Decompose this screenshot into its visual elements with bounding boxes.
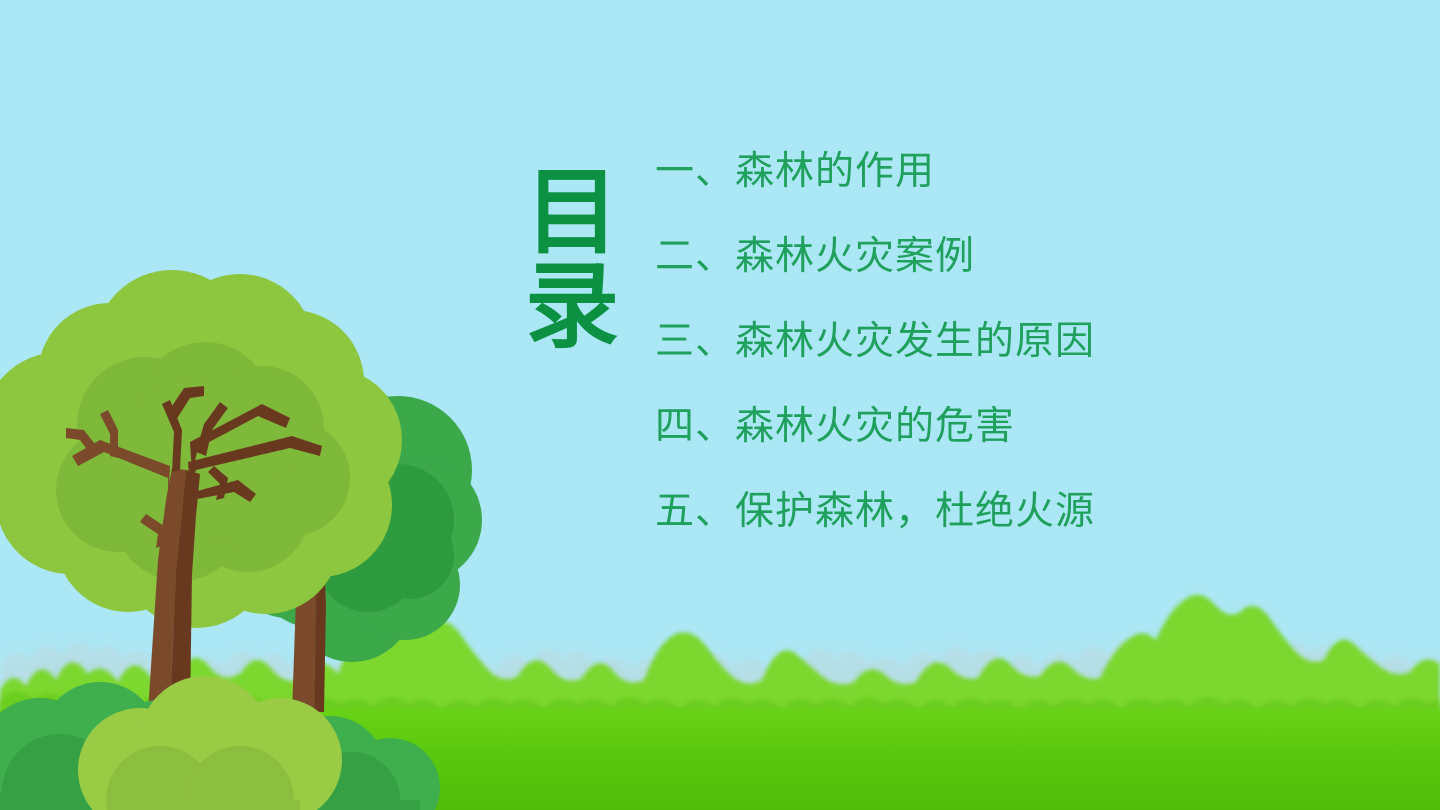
toc-item-3[interactable]: 三、森林火灾发生的原因	[655, 320, 1155, 364]
bush-cluster	[0, 676, 440, 810]
toc-item-2[interactable]: 二、森林火灾案例	[655, 235, 1155, 279]
toc-block: 目录 一、森林的作用 二、森林火灾案例 三、森林火灾发生的原因 四、森林火灾的危…	[500, 150, 1160, 570]
toc-item-5[interactable]: 五、保护森林，杜绝火源	[655, 490, 1155, 534]
toc-list: 一、森林的作用 二、森林火灾案例 三、森林火灾发生的原因 四、森林火灾的危害 五…	[655, 150, 1155, 534]
page-title: 目录	[508, 162, 612, 350]
slide-canvas: 目录 一、森林的作用 二、森林火灾案例 三、森林火灾发生的原因 四、森林火灾的危…	[0, 0, 1440, 810]
toc-item-1[interactable]: 一、森林的作用	[655, 150, 1155, 194]
toc-item-4[interactable]: 四、森林火灾的危害	[655, 405, 1155, 449]
